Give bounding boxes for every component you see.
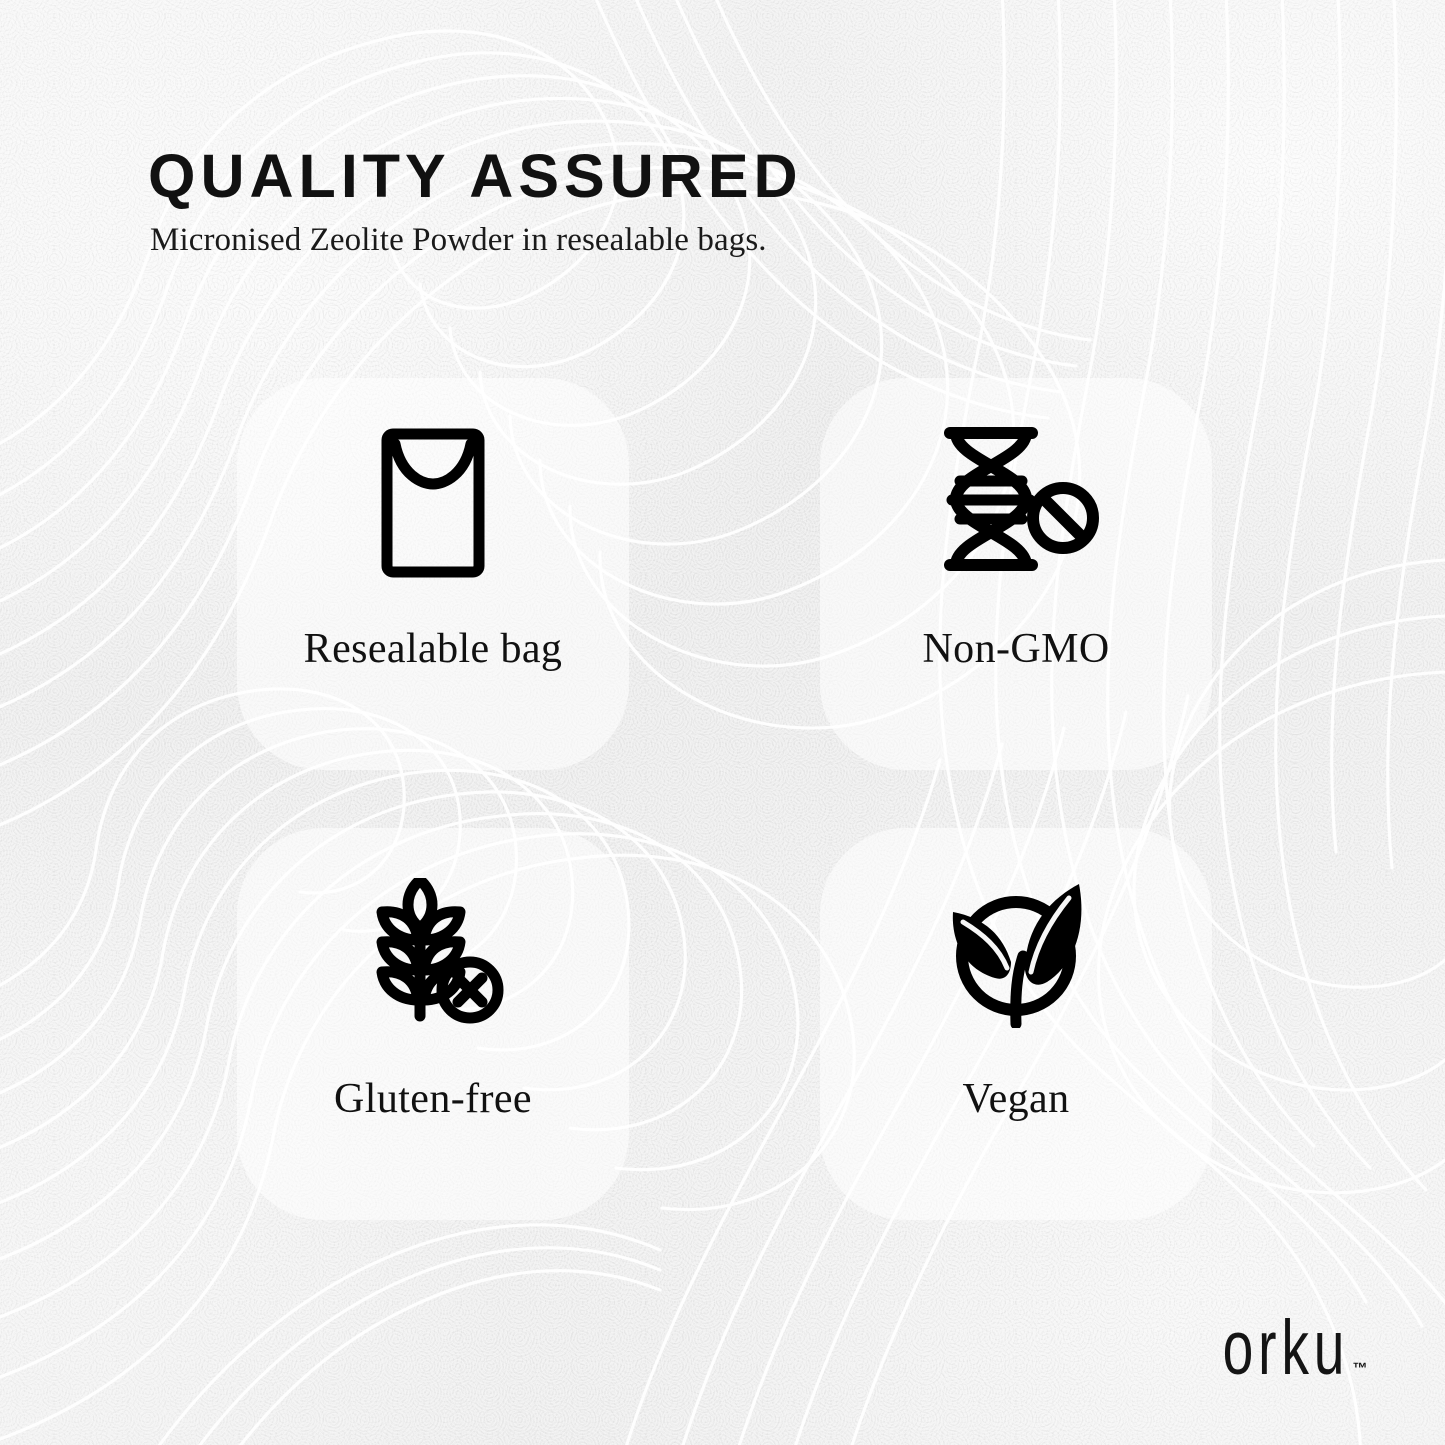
dna-no-gmo-icon <box>820 378 1212 628</box>
wheat-crossed-out-icon <box>237 828 629 1078</box>
feature-card-non-gmo[interactable]: Non-GMO <box>820 378 1212 770</box>
feature-label: Gluten-free <box>334 1078 532 1120</box>
header-block: QUALITY ASSURED Micronised Zeolite Powde… <box>148 146 803 257</box>
product-feature-poster: QUALITY ASSURED Micronised Zeolite Powde… <box>0 0 1445 1445</box>
feature-card-vegan[interactable]: Vegan <box>820 828 1212 1220</box>
trademark-symbol: ™ <box>1353 1360 1369 1377</box>
feature-label: Non-GMO <box>922 628 1109 670</box>
feature-card-gluten-free[interactable]: Gluten-free <box>237 828 629 1220</box>
brand-logo: orku ™ <box>1191 1320 1368 1383</box>
feature-card-resealable-bag[interactable]: Resealable bag <box>237 378 629 770</box>
resealable-bag-icon <box>237 378 629 628</box>
feature-label: Vegan <box>963 1078 1070 1120</box>
brand-name: orku <box>1223 1312 1350 1383</box>
leaf-sprout-circle-icon <box>820 828 1212 1078</box>
feature-grid: Resealable bag <box>237 378 1212 1220</box>
feature-label: Resealable bag <box>304 628 563 670</box>
page-title: QUALITY ASSURED <box>148 146 803 207</box>
page-subtitle: Micronised Zeolite Powder in resealable … <box>150 224 803 257</box>
